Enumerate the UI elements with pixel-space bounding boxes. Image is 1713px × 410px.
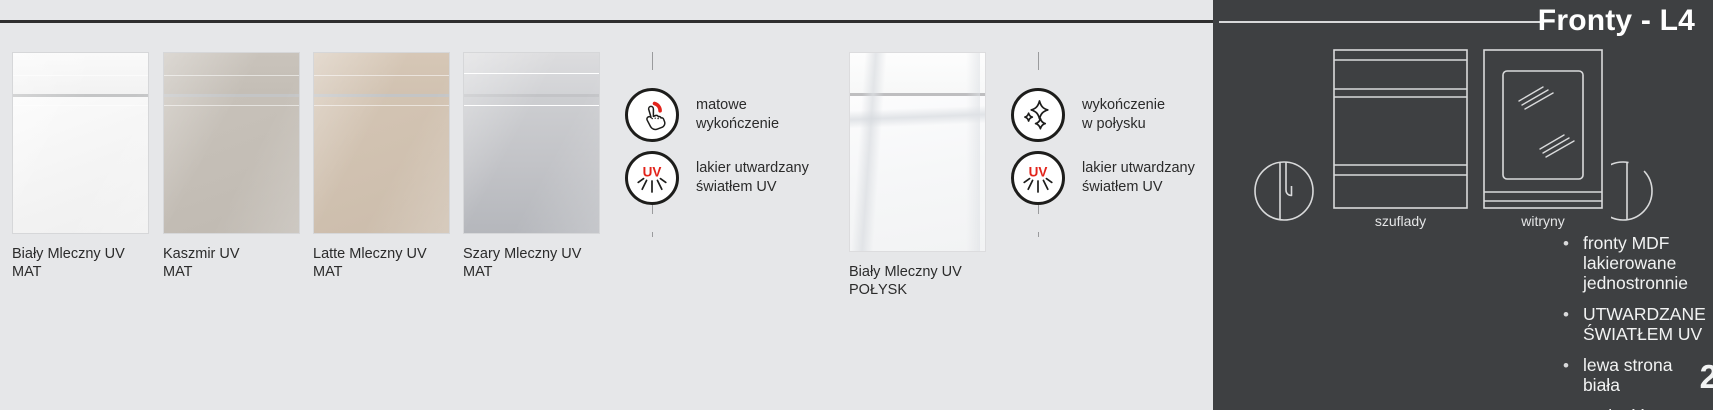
type-caption: witryny bbox=[1483, 213, 1603, 229]
glass-cabinet-icon: witryny bbox=[1483, 49, 1603, 214]
door-hairline-lower bbox=[464, 105, 599, 106]
feature-label: wykończenie w połysku bbox=[1082, 96, 1165, 134]
page-number: 2 bbox=[1700, 358, 1713, 396]
page-title: Fronty - L4 bbox=[1538, 4, 1695, 38]
door-label: Latte Mleczny UVMAT bbox=[313, 246, 450, 281]
door-swatch bbox=[463, 52, 600, 234]
list-item: • lewa strona biała bbox=[1563, 355, 1713, 395]
door-hairline-lower bbox=[13, 105, 148, 106]
bullet-text: fronty MDF lakierowane jednostronnie bbox=[1583, 233, 1713, 293]
door-top-panel bbox=[13, 53, 148, 94]
door-name: Biały Mleczny UV bbox=[12, 246, 125, 262]
feature-matowe-wykonczenie: matowe wykończenie bbox=[625, 88, 779, 142]
uv-cured-icon: UV bbox=[625, 151, 679, 205]
door-swatch bbox=[849, 52, 986, 252]
door-sample-szary-mleczny-mat[interactable]: Szary Mleczny UVMAT bbox=[463, 52, 600, 281]
bullet-text: lewa strona biała bbox=[1583, 355, 1713, 395]
drawers-icon: szuflady bbox=[1333, 49, 1468, 214]
door-hairline bbox=[464, 73, 599, 74]
door-hairline bbox=[164, 75, 299, 76]
door-sample-kaszmir-mat[interactable]: Kaszmir UVMAT bbox=[163, 52, 300, 281]
door-sample-latte-mleczny-mat[interactable]: Latte Mleczny UVMAT bbox=[313, 52, 450, 281]
info-panel: Fronty - L4 sz bbox=[1213, 0, 1713, 410]
door-finish: MAT bbox=[463, 264, 493, 280]
door-hairline-lower bbox=[314, 105, 449, 106]
door-name: Szary Mleczny UV bbox=[463, 246, 581, 262]
door-hairline bbox=[13, 75, 148, 76]
feature-uv-matte: UV lakier utwardzany światłem UV bbox=[625, 151, 809, 205]
feature-label: lakier utwardzany światłem UV bbox=[1082, 159, 1195, 197]
handle-profile-icon bbox=[1253, 160, 1315, 227]
list-item: • UTWARDZANE ŚWIATŁEM UV bbox=[1563, 304, 1713, 344]
feature-bullet-list: • fronty MDF lakierowane jednostronnie •… bbox=[1563, 233, 1713, 410]
bullet-text: UTWARDZANE ŚWIATŁEM UV bbox=[1583, 304, 1713, 344]
catalog-page: Biały Mleczny UVMAT Kaszmir UVMAT bbox=[0, 0, 1713, 410]
door-label: Biały Mleczny UVPOŁYSK bbox=[849, 264, 986, 299]
door-swatch bbox=[12, 52, 149, 234]
door-body bbox=[314, 97, 449, 233]
door-name: Kaszmir UV bbox=[163, 246, 240, 262]
door-sample-bialy-mleczny-mat[interactable]: Biały Mleczny UVMAT bbox=[12, 52, 149, 281]
gloss-finish-icon bbox=[1011, 88, 1065, 142]
bullet-text: grubość 19 mm bbox=[1583, 406, 1704, 410]
door-body bbox=[164, 97, 299, 233]
door-body bbox=[13, 97, 148, 233]
door-top-panel bbox=[314, 53, 449, 94]
door-gloss-reflection-edge bbox=[966, 53, 980, 251]
front-type-icons: szuflady bbox=[1253, 50, 1713, 225]
door-body bbox=[464, 97, 599, 233]
list-item: • fronty MDF lakierowane jednostronnie bbox=[1563, 233, 1713, 293]
svg-text:UV: UV bbox=[1029, 165, 1048, 180]
door-name: Biały Mleczny UV bbox=[849, 264, 962, 280]
door-hairline bbox=[314, 75, 449, 76]
door-hairline-lower bbox=[164, 105, 299, 106]
divider-dashed-matte bbox=[652, 52, 653, 237]
door-swatch bbox=[313, 52, 450, 234]
type-caption: szuflady bbox=[1333, 213, 1468, 229]
door-label: Kaszmir UVMAT bbox=[163, 246, 300, 281]
bullet-marker-icon: • bbox=[1563, 357, 1569, 374]
matte-finish-icon bbox=[625, 88, 679, 142]
door-finish: MAT bbox=[12, 264, 42, 280]
list-item: • grubość 19 mm bbox=[1563, 406, 1713, 410]
svg-text:UV: UV bbox=[643, 165, 662, 180]
title-rule bbox=[1219, 21, 1541, 23]
door-label: Szary Mleczny UVMAT bbox=[463, 246, 600, 281]
door-finish: MAT bbox=[163, 264, 193, 280]
door-swatch bbox=[163, 52, 300, 234]
door-sample-bialy-mleczny-polysk[interactable]: Biały Mleczny UVPOŁYSK bbox=[849, 52, 986, 299]
door-finish: POŁYSK bbox=[849, 282, 907, 298]
samples-area: Biały Mleczny UVMAT Kaszmir UVMAT bbox=[0, 0, 1213, 410]
door-name: Latte Mleczny UV bbox=[313, 246, 427, 262]
door-top-panel bbox=[164, 53, 299, 94]
divider-dashed-gloss bbox=[1038, 52, 1039, 237]
feature-label: lakier utwardzany światłem UV bbox=[696, 159, 809, 197]
feature-label: matowe wykończenie bbox=[696, 96, 779, 134]
uv-cured-icon: UV bbox=[1011, 151, 1065, 205]
handle-profile-right-icon bbox=[1611, 160, 1681, 227]
door-label: Biały Mleczny UVMAT bbox=[12, 246, 149, 281]
feature-wykonczenie-w-polysku: wykończenie w połysku bbox=[1011, 88, 1165, 142]
door-finish: MAT bbox=[313, 264, 343, 280]
bullet-marker-icon: • bbox=[1563, 306, 1569, 323]
bullet-marker-icon: • bbox=[1563, 235, 1569, 252]
feature-uv-gloss: UV lakier utwardzany światłem UV bbox=[1011, 151, 1195, 205]
